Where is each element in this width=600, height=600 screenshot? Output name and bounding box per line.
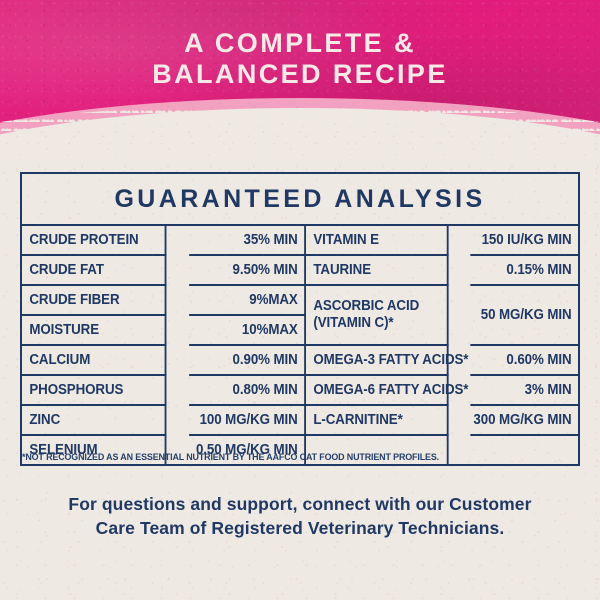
table-row: CRUDE PROTEIN [22,226,166,256]
table-row: PHOSPHORUS [22,376,166,406]
table-row: 10%MAX [189,316,306,346]
table-row: 0.60% MIN [470,346,578,376]
table-row: 3% MIN [470,376,578,406]
table-row: 0.90% MIN [189,346,306,376]
support-message-line-1: For questions and support, connect with … [28,492,572,516]
table-row: CRUDE FIBER [22,286,166,316]
table-row: 0.15% MIN [470,256,578,286]
table-row: VITAMIN E [306,226,449,256]
table-row: 9.50% MIN [189,256,306,286]
support-message-line-2: Care Team of Registered Veterinary Techn… [28,516,572,540]
nutrient-name-line-2: (VITAMIN C)* [313,315,393,332]
nutrient-name-line-1: ASCORBIC ACID [313,298,419,315]
product-label-panel: A COMPLETE & BALANCED RECIPE GUARANTEED … [0,0,600,600]
guaranteed-analysis-table: GUARANTEED ANALYSIS CRUDE PROTEIN 35% MI… [20,172,580,466]
table-row: TAURINE [306,256,449,286]
table-row: 50 MG/KG MIN [470,286,578,346]
table-row [470,436,578,464]
main-content: GUARANTEED ANALYSIS CRUDE PROTEIN 35% MI… [0,0,600,600]
table-row: 100 MG/KG MIN [189,406,306,436]
table-row: CRUDE FAT [22,256,166,286]
table-row: OMEGA-6 FATTY ACIDS* [306,376,449,406]
guaranteed-analysis-heading: GUARANTEED ANALYSIS [22,174,578,226]
table-row: CALCIUM [22,346,166,376]
aafco-footnote: *NOT RECOGNIZED AS AN ESSENTIAL NUTRIENT… [22,452,439,463]
table-row: 150 IU/KG MIN [470,226,578,256]
table-row: ASCORBIC ACID (VITAMIN C)* [306,286,449,346]
table-row: 300 MG/KG MIN [470,406,578,436]
table-row: 0.80% MIN [189,376,306,406]
table-row: MOISTURE [22,316,166,346]
table-row: 9%MAX [189,286,306,316]
table-row: 35% MIN [189,226,306,256]
nutrition-grid: CRUDE PROTEIN 35% MIN VITAMIN E 150 IU/K… [22,226,578,464]
table-row: ZINC [22,406,166,436]
support-message: For questions and support, connect with … [0,492,600,540]
table-row: L-CARNITINE* [306,406,449,436]
table-row: OMEGA-3 FATTY ACIDS* [306,346,449,376]
